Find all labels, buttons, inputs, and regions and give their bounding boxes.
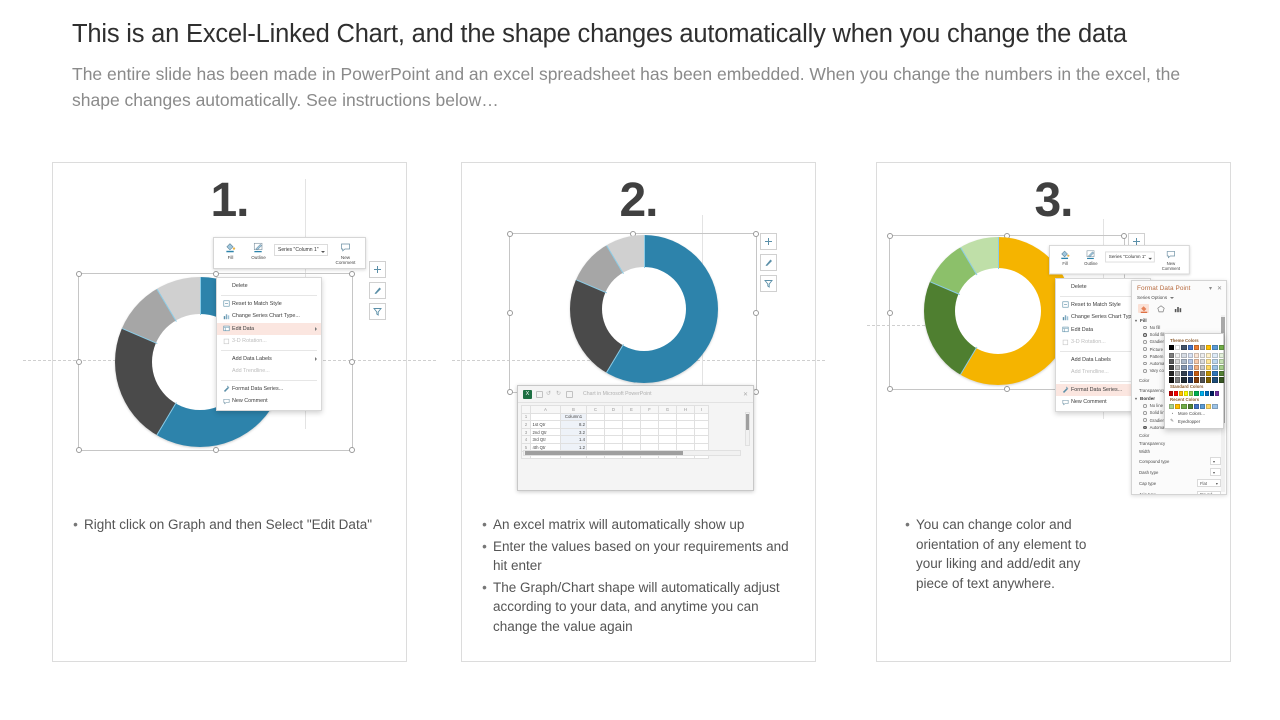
radio-button[interactable] (1143, 326, 1147, 330)
field-dropdown[interactable]: Round▾ (1197, 491, 1221, 495)
cell-empty[interactable] (587, 428, 605, 436)
theme-color-column[interactable] (1200, 345, 1205, 383)
format-pane-tabs[interactable] (1132, 302, 1226, 316)
menu-item-label: New Comment (232, 398, 268, 404)
color-swatch[interactable] (1194, 391, 1198, 396)
column-header[interactable]: G (659, 406, 677, 414)
eyedropper-icon: ✎ (1169, 418, 1175, 424)
color-swatch[interactable] (1181, 371, 1186, 376)
radio-button[interactable] (1143, 426, 1147, 430)
outline-pen-icon (253, 241, 264, 254)
chart-elements-button[interactable] (369, 261, 386, 278)
cell-empty[interactable] (641, 428, 659, 436)
color-swatch[interactable] (1181, 359, 1186, 364)
color-swatch[interactable] (1206, 345, 1211, 350)
resize-handle[interactable] (349, 271, 355, 277)
bullet-text: Right click on Graph and then Select "Ed… (84, 515, 396, 535)
color-swatch[interactable] (1200, 359, 1205, 364)
doughnut-hole (955, 268, 1041, 354)
color-swatch[interactable] (1194, 359, 1199, 364)
segment-divider (606, 344, 624, 373)
step-panel-3: 3. (876, 162, 1231, 662)
fill-button[interactable]: Fill (218, 241, 243, 260)
cell-empty[interactable] (623, 421, 641, 429)
column-header[interactable]: D (605, 406, 623, 414)
doughnut-chart-2[interactable] (570, 235, 718, 383)
cell-empty[interactable] (623, 413, 641, 421)
cell-empty[interactable] (695, 436, 709, 444)
theme-color-column[interactable] (1219, 345, 1224, 383)
resize-handle[interactable] (76, 359, 82, 365)
chevron-down-icon[interactable]: ▾ (1213, 470, 1215, 475)
color-swatch[interactable] (1181, 404, 1186, 409)
cell-empty[interactable] (623, 436, 641, 444)
color-swatch[interactable] (1175, 359, 1180, 364)
table-row[interactable]: 1Column1 (522, 413, 709, 421)
cell-b[interactable]: 3.2 (561, 428, 587, 436)
step-1-bullets: • Right click on Graph and then Select "… (67, 515, 396, 537)
color-swatch[interactable] (1194, 404, 1199, 409)
step-2-bullets: • An excel matrix will automatically sho… (476, 515, 805, 638)
series-dropdown[interactable]: Series "Column 1" (274, 244, 328, 256)
resize-handle[interactable] (753, 231, 759, 237)
menu-item-edit-data[interactable]: Edit Data (217, 323, 321, 336)
color-swatch[interactable] (1219, 377, 1224, 382)
color-swatch[interactable] (1175, 345, 1180, 350)
field-dropdown[interactable]: ▾ (1210, 457, 1221, 465)
resize-handle[interactable] (1121, 233, 1127, 239)
color-swatch[interactable] (1188, 353, 1193, 358)
radio-button[interactable] (1143, 404, 1147, 408)
resize-handle[interactable] (753, 310, 759, 316)
color-swatch[interactable] (1200, 371, 1205, 376)
cell-empty[interactable] (695, 428, 709, 436)
theme-color-column[interactable] (1212, 345, 1217, 383)
theme-colors-grid[interactable] (1169, 345, 1219, 383)
radio-button[interactable] (1143, 347, 1147, 351)
color-swatch[interactable] (1181, 353, 1186, 358)
theme-color-column[interactable] (1175, 345, 1180, 383)
cell-empty[interactable] (605, 428, 623, 436)
color-swatch[interactable] (1219, 359, 1224, 364)
color-swatch[interactable] (1200, 377, 1205, 382)
cell-empty[interactable] (695, 413, 709, 421)
menu-item-new-comment[interactable]: New Comment (217, 395, 321, 408)
color-swatch[interactable] (1219, 345, 1224, 350)
color-swatch[interactable] (1206, 359, 1211, 364)
menu-item-label: Edit Data (232, 326, 254, 332)
fill-option-no-fill[interactable]: No fill (1132, 324, 1226, 331)
bullet-dot: • (476, 515, 493, 535)
fill-button[interactable]: Fill (1054, 249, 1077, 267)
comment-balloon-icon (340, 241, 351, 254)
radio-button[interactable] (1143, 411, 1147, 415)
color-swatch[interactable] (1219, 365, 1224, 370)
color-swatch[interactable] (1194, 353, 1199, 358)
color-swatch[interactable] (1206, 365, 1211, 370)
table-row[interactable]: 43rd Qtr1.4 (522, 436, 709, 444)
color-swatch[interactable] (1188, 371, 1193, 376)
new-comment-label: New Comment (1157, 262, 1185, 272)
field-value: Flat (1200, 481, 1207, 486)
cell-a[interactable]: 3rd Qtr (531, 436, 561, 444)
color-swatch[interactable] (1215, 391, 1219, 396)
eyedropper-item[interactable]: ✎ Eyedropper (1169, 418, 1219, 424)
resize-handle[interactable] (76, 271, 82, 277)
reset-icon (1060, 301, 1071, 308)
resize-handle[interactable] (887, 310, 893, 316)
list-item: • Right click on Graph and then Select "… (67, 515, 396, 535)
color-swatch[interactable] (1175, 404, 1180, 409)
chart-side-buttons-2[interactable] (760, 233, 777, 292)
row-header[interactable]: 4 (522, 436, 531, 444)
radio-button[interactable] (1143, 362, 1147, 366)
color-swatch[interactable] (1212, 365, 1217, 370)
chevron-down-icon[interactable]: ▾ (1216, 481, 1218, 486)
step-2-stage: X ↺ ↻ Chart in Microsoft PowerPoint ✕ AB… (462, 225, 815, 505)
table-row[interactable]: 32nd Qtr3.2 (522, 428, 709, 436)
cell-empty[interactable] (623, 428, 641, 436)
chart-styles-button[interactable] (760, 254, 777, 271)
radio-button[interactable] (1143, 355, 1147, 359)
fill-bucket-icon (1060, 249, 1070, 261)
resize-handle[interactable] (1004, 386, 1010, 392)
series-bars-icon[interactable] (1172, 304, 1183, 313)
column-header[interactable]: F (641, 406, 659, 414)
comment-balloon-icon (1166, 249, 1176, 261)
color-swatch[interactable] (1169, 391, 1173, 396)
menu-item-reset-to-match-style[interactable]: Reset to Match Style (217, 298, 321, 311)
new-comment-button[interactable]: New Comment (1157, 249, 1185, 272)
column-header[interactable]: A (531, 406, 561, 414)
border-field-transparency[interactable]: Transparency (1132, 439, 1226, 447)
segment-divider (200, 277, 201, 315)
radio-button[interactable] (1143, 418, 1147, 422)
column-header[interactable]: E (623, 406, 641, 414)
color-swatch[interactable] (1219, 353, 1224, 358)
cell-empty[interactable] (605, 436, 623, 444)
chart-side-buttons-1[interactable] (369, 261, 386, 320)
border-field-compound-type[interactable]: Compound type▾ (1132, 456, 1226, 467)
field-label: Dash type (1139, 470, 1173, 475)
field-label: Color (1139, 433, 1173, 438)
menu-item-label: Format Data Series... (232, 386, 283, 392)
resize-handle[interactable] (76, 447, 82, 453)
color-swatch[interactable] (1188, 377, 1193, 382)
color-swatch[interactable] (1200, 365, 1205, 370)
color-swatch[interactable] (1169, 365, 1174, 370)
bullet-text: You can change color and orientation of … (916, 515, 1116, 593)
resize-handle[interactable] (507, 310, 513, 316)
column-header[interactable]: I (695, 406, 709, 414)
standard-colors-label: Standard Colors (1170, 384, 1219, 389)
resize-handle[interactable] (507, 389, 513, 395)
color-swatch[interactable] (1169, 404, 1174, 409)
color-swatch[interactable] (1188, 404, 1193, 409)
menu-item-add-data-labels[interactable]: Add Data Labels (217, 353, 321, 366)
fill-option-label: Solid fill (1150, 332, 1165, 337)
color-swatch[interactable] (1212, 359, 1217, 364)
border-field-width[interactable]: Width (1132, 447, 1226, 455)
outline-label: Outline (251, 255, 266, 260)
step-3-bullets: • You can change color and orientation o… (899, 515, 1212, 595)
chart-filters-button[interactable] (760, 275, 777, 292)
comment-balloon-icon (221, 398, 232, 405)
theme-color-column[interactable] (1181, 345, 1186, 383)
excel-embedded-window[interactable]: X ↺ ↻ Chart in Microsoft PowerPoint ✕ AB… (517, 385, 754, 491)
excel-document-name: Chart in Microsoft PowerPoint (583, 391, 652, 397)
scrollbar-thumb[interactable] (746, 414, 749, 430)
color-swatch[interactable] (1200, 391, 1204, 396)
close-icon[interactable]: ✕ (1217, 285, 1222, 292)
more-colors-item[interactable]: ◔ More Colors... (1169, 411, 1219, 416)
field-value: Round (1200, 492, 1212, 495)
chart-styles-button[interactable] (369, 282, 386, 299)
segment-divider (960, 347, 977, 375)
cell-b[interactable]: Column1 (561, 413, 587, 421)
theme-colors-columns[interactable] (1169, 345, 1219, 383)
close-icon[interactable]: ✕ (743, 391, 748, 398)
color-swatch[interactable] (1175, 353, 1180, 358)
cell-empty[interactable] (587, 436, 605, 444)
chart-elements-button[interactable] (760, 233, 777, 250)
color-swatch[interactable] (1194, 345, 1199, 350)
effects-pentagon-icon[interactable] (1155, 304, 1166, 313)
bullet-text: An excel matrix will automatically show … (493, 515, 805, 535)
border-field-dash-type[interactable]: Dash type▾ (1132, 467, 1226, 478)
color-swatch[interactable] (1169, 359, 1174, 364)
field-label: Transparency (1139, 441, 1173, 446)
theme-color-column[interactable] (1188, 345, 1193, 383)
cell-empty[interactable] (587, 421, 605, 429)
color-swatch[interactable] (1219, 371, 1224, 376)
color-swatch[interactable] (1181, 345, 1186, 350)
row-header[interactable]: 3 (522, 428, 531, 436)
color-swatch[interactable] (1169, 353, 1174, 358)
excel-horizontal-scrollbar[interactable] (523, 450, 741, 456)
cell-empty[interactable] (677, 436, 695, 444)
bullet-dot: • (899, 515, 916, 593)
chart-filters-button[interactable] (369, 303, 386, 320)
border-field-cap-type[interactable]: Cap typeFlat▾ (1132, 478, 1226, 489)
cell-empty[interactable] (641, 421, 659, 429)
color-swatch[interactable] (1200, 353, 1205, 358)
color-swatch[interactable] (1175, 377, 1180, 382)
more-colors-label: More Colors... (1178, 411, 1205, 416)
column-header[interactable] (522, 406, 531, 414)
color-swatch[interactable] (1205, 391, 1209, 396)
mini-toolbar-1[interactable]: Fill Outline Series "Column 1" (213, 237, 366, 269)
outline-button[interactable]: Outline (1079, 249, 1102, 267)
color-swatch[interactable] (1179, 391, 1183, 396)
fill-label: Fill (228, 255, 234, 260)
field-dropdown[interactable]: ▾ (1210, 468, 1221, 476)
color-swatch[interactable] (1169, 377, 1174, 382)
color-swatch[interactable] (1174, 391, 1178, 396)
palette-icon: ◔ (1169, 411, 1175, 416)
pin-icon[interactable]: ▾ (1209, 285, 1212, 292)
cell-empty[interactable] (641, 436, 659, 444)
fill-paint-icon[interactable] (1138, 304, 1149, 313)
recent-colors-row[interactable] (1169, 404, 1219, 409)
chevron-down-icon[interactable]: ▾ (1213, 459, 1215, 464)
quick-access-toolbar[interactable]: ↺ ↻ (536, 391, 573, 398)
color-swatch[interactable] (1169, 345, 1174, 350)
chevron-down-icon[interactable]: ▾ (1216, 492, 1218, 495)
menu-item-add-trendline: Add Trendline... (217, 365, 321, 378)
column-header[interactable]: B (561, 406, 587, 414)
color-swatch[interactable] (1206, 353, 1211, 358)
color-swatch[interactable] (1175, 371, 1180, 376)
menu-item-3-d-rotation: 3-D Rotation... (217, 335, 321, 348)
bullet-text: Enter the values based on your requireme… (493, 537, 805, 576)
color-swatch[interactable] (1194, 371, 1199, 376)
color-swatch[interactable] (1200, 404, 1205, 409)
color-swatch[interactable] (1188, 345, 1193, 350)
menu-item-label: 3-D Rotation... (232, 338, 267, 344)
row-header[interactable]: 2 (522, 421, 531, 429)
bullet-dot: • (67, 515, 84, 535)
field-dropdown[interactable]: Flat▾ (1197, 479, 1221, 487)
cell-b[interactable]: 8.2 (561, 421, 587, 429)
radio-button[interactable] (1143, 369, 1147, 373)
save-icon[interactable] (536, 391, 543, 398)
color-swatch[interactable] (1184, 391, 1188, 396)
row-header[interactable]: 1 (522, 413, 531, 421)
border-field-join-type[interactable]: Join typeRound▾ (1132, 489, 1226, 495)
cell-empty[interactable] (695, 421, 709, 429)
list-item: • You can change color and orientation o… (899, 515, 1212, 593)
cell-empty[interactable] (677, 428, 695, 436)
color-swatch[interactable] (1181, 365, 1186, 370)
column-header[interactable]: C (587, 406, 605, 414)
color-swatch[interactable] (1189, 391, 1193, 396)
field-label: Compound type (1139, 459, 1173, 464)
cell-a[interactable] (531, 413, 561, 421)
theme-color-column[interactable] (1169, 345, 1174, 383)
resize-handle[interactable] (349, 359, 355, 365)
table-row[interactable]: 21st Qtr8.2 (522, 421, 709, 429)
cell-empty[interactable] (659, 428, 677, 436)
segment-divider (156, 289, 176, 322)
menu-separator (221, 350, 317, 351)
cell-empty[interactable] (587, 413, 605, 421)
eyedropper-label: Eyedropper (1178, 419, 1200, 424)
border-fields-list[interactable]: ColorTransparencyWidthCompound type▾Dash… (1132, 431, 1226, 495)
color-swatch[interactable] (1212, 353, 1217, 358)
color-swatch[interactable] (1212, 377, 1217, 382)
color-swatch[interactable] (1188, 359, 1193, 364)
color-swatch[interactable] (1206, 371, 1211, 376)
step-panel-1: 1. (52, 162, 407, 662)
color-swatch[interactable] (1169, 371, 1174, 376)
color-swatch[interactable] (1194, 365, 1199, 370)
color-swatch[interactable] (1194, 377, 1199, 382)
excel-vertical-scrollbar[interactable] (745, 412, 750, 446)
open-in-excel-icon[interactable] (566, 391, 573, 398)
comment-balloon-icon (1060, 399, 1071, 406)
color-swatch[interactable] (1212, 345, 1217, 350)
undo-icon[interactable]: ↺ (546, 391, 553, 398)
color-picker-popup[interactable]: Theme Colors Standard Colors Recent Colo… (1164, 333, 1224, 429)
menu-item-label: Change Series Chart Type... (232, 313, 300, 319)
cell-empty[interactable] (641, 413, 659, 421)
segment-divider (998, 237, 999, 269)
resize-handle[interactable] (349, 447, 355, 453)
new-comment-button[interactable]: New Comment (331, 241, 361, 266)
menu-item-delete[interactable]: Delete (217, 280, 321, 293)
cell-empty[interactable] (605, 421, 623, 429)
column-header[interactable]: H (677, 406, 695, 414)
context-menu-1[interactable]: DeleteReset to Match StyleChange Series … (216, 277, 322, 411)
menu-item-label: Delete (232, 283, 248, 289)
resize-handle[interactable] (887, 233, 893, 239)
menu-item-format-data-series[interactable]: Format Data Series... (217, 383, 321, 396)
format-brush-icon (221, 385, 232, 392)
color-swatch[interactable] (1188, 365, 1193, 370)
cell-b[interactable]: 1.4 (561, 436, 587, 444)
outline-button[interactable]: Outline (246, 241, 271, 260)
theme-color-column[interactable] (1194, 345, 1199, 383)
series-options-dropdown[interactable]: Series Options (1132, 293, 1226, 302)
color-swatch[interactable] (1206, 404, 1211, 409)
redo-icon[interactable]: ↻ (556, 391, 563, 398)
color-swatch[interactable] (1206, 377, 1211, 382)
cell-a[interactable]: 1st Qtr (531, 421, 561, 429)
border-option-label: No line (1150, 403, 1163, 408)
segment-divider (122, 328, 157, 344)
standard-colors-row[interactable] (1169, 391, 1219, 396)
color-swatch[interactable] (1181, 377, 1186, 382)
cell-empty[interactable] (659, 413, 677, 421)
resize-handle[interactable] (507, 231, 513, 237)
radio-button[interactable] (1143, 333, 1147, 337)
menu-item-label: 3-D Rotation... (1071, 339, 1106, 345)
step-1-stage: Fill Outline Series "Column 1" (53, 225, 406, 505)
segment-divider (644, 235, 645, 268)
resize-handle[interactable] (887, 386, 893, 392)
cell-empty[interactable] (677, 421, 695, 429)
menu-item-label: Reset to Match Style (1071, 302, 1121, 308)
step-number-2: 2. (462, 173, 815, 228)
mini-toolbar-3[interactable]: Fill Outline Series "Column 1" (1049, 245, 1189, 274)
submenu-arrow-icon (315, 327, 317, 331)
menu-item-label: Add Trendline... (232, 368, 270, 374)
cell-empty[interactable] (677, 413, 695, 421)
border-field-color[interactable]: Color (1132, 431, 1226, 439)
cell-empty[interactable] (659, 436, 677, 444)
field-label: Cap type (1139, 481, 1173, 486)
scrollbar-thumb[interactable] (525, 451, 683, 455)
color-swatch[interactable] (1210, 391, 1214, 396)
cell-a[interactable]: 2nd Qtr (531, 428, 561, 436)
edit-data-icon (221, 325, 232, 332)
cell-empty[interactable] (605, 413, 623, 421)
list-item: • An excel matrix will automatically sho… (476, 515, 805, 535)
radio-button[interactable] (1143, 340, 1147, 344)
menu-item-change-series-chart-type[interactable]: Change Series Chart Type... (217, 310, 321, 323)
series-dropdown[interactable]: Series "Column 1" (1105, 251, 1154, 262)
color-swatch[interactable] (1212, 404, 1217, 409)
submenu-arrow-icon (315, 357, 317, 361)
fill-section-header[interactable]: Fill (1132, 316, 1226, 324)
resize-handle[interactable] (213, 447, 219, 453)
theme-color-column[interactable] (1206, 345, 1211, 383)
color-swatch[interactable] (1212, 371, 1217, 376)
color-swatch[interactable] (1200, 345, 1205, 350)
cell-empty[interactable] (659, 421, 677, 429)
color-swatch[interactable] (1175, 365, 1180, 370)
